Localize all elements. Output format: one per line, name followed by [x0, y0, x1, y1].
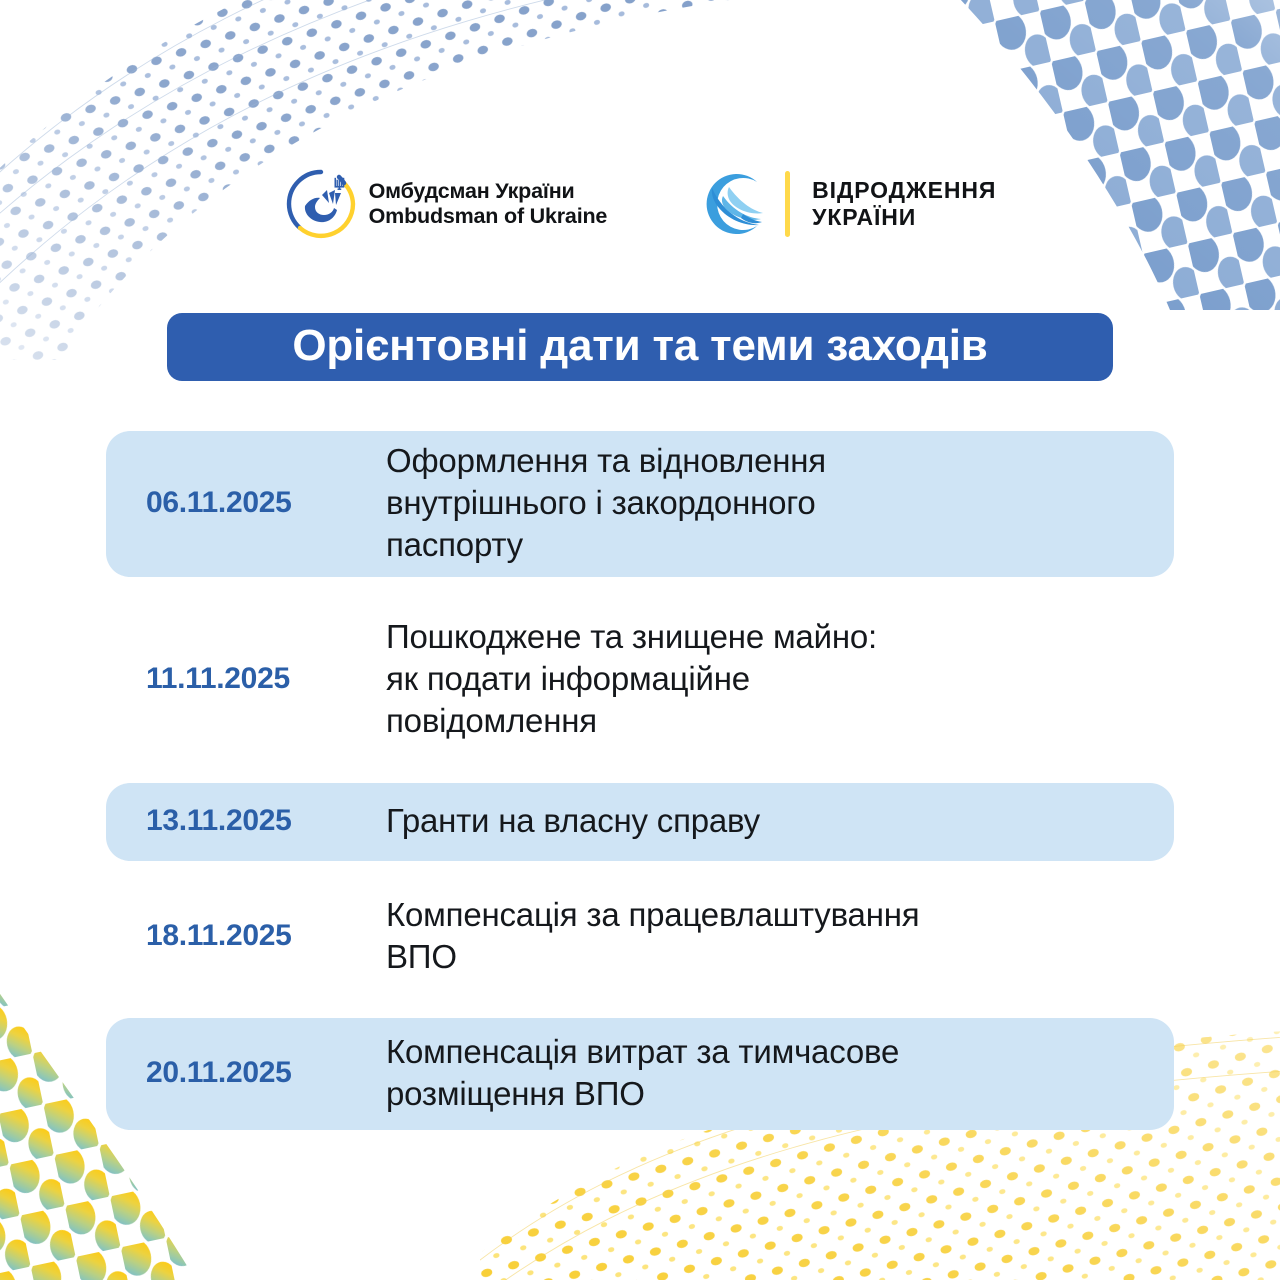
schedule-row: 13.11.2025 Гранти на власну справу — [106, 783, 1174, 861]
ombudsman-wordmark-line-uk: Омбудсман України — [369, 179, 608, 204]
poster-canvas: Омбудсман України Ombudsman of Ukraine В… — [0, 0, 1280, 1280]
schedule-row: 06.11.2025 Оформлення та відновлення вну… — [106, 431, 1174, 577]
header-logo-row: Омбудсман України Ombudsman of Ukraine В… — [0, 162, 1280, 246]
schedule-row-topic: Оформлення та відновлення внутрішнього і… — [386, 440, 1148, 567]
ombudsman-wordmark: Омбудсман України Ombudsman of Ukraine — [369, 179, 608, 229]
schedule-row-date: 11.11.2025 — [128, 662, 386, 696]
schedule-row: 20.11.2025 Компенсація витрат за тимчасо… — [106, 1018, 1174, 1130]
vidrodzhennia-wordmark-line-1: ВІДРОДЖЕННЯ — [812, 177, 996, 204]
phoenix-bird-circle-icon — [699, 168, 771, 240]
schedule-row: 18.11.2025 Компенсація за працевлаштуван… — [106, 878, 1174, 996]
schedule-row-date: 13.11.2025 — [128, 804, 386, 838]
schedule-row: 11.11.2025 Пошкоджене та знищене майно: … — [106, 594, 1174, 766]
logo-vidrodzhennia-ukrainy: ВІДРОДЖЕННЯ УКРАЇНИ — [699, 168, 996, 240]
page-title-banner: Орієнтовні дати та теми заходів — [167, 313, 1113, 381]
schedule-row-date: 20.11.2025 — [128, 1056, 386, 1090]
logo-divider-rule — [785, 171, 790, 237]
schedule-row-topic: Гранти на власну справу — [386, 800, 1148, 842]
schedule-row-date: 06.11.2025 — [128, 486, 386, 520]
dot-grid-top-right-decoration — [870, 0, 1280, 310]
dove-hand-trident-circle-icon — [284, 167, 358, 241]
schedule-row-topic: Компенсація витрат за тимчасове розміщен… — [386, 1031, 1148, 1115]
schedule-list: 06.11.2025 Оформлення та відновлення вну… — [106, 431, 1174, 1130]
schedule-row-topic: Пошкоджене та знищене майно: як подати і… — [386, 616, 1148, 743]
vidrodzhennia-wordmark: ВІДРОДЖЕННЯ УКРАЇНИ — [812, 177, 996, 230]
page-title: Орієнтовні дати та теми заходів — [292, 324, 987, 368]
ombudsman-wordmark-line-en: Ombudsman of Ukraine — [369, 204, 608, 229]
vidrodzhennia-wordmark-line-2: УКРАЇНИ — [812, 204, 996, 231]
schedule-row-date: 18.11.2025 — [128, 919, 386, 953]
logo-ombudsman-of-ukraine: Омбудсман України Ombudsman of Ukraine — [284, 167, 608, 241]
schedule-row-topic: Компенсація за працевлаштування ВПО — [386, 894, 1148, 978]
